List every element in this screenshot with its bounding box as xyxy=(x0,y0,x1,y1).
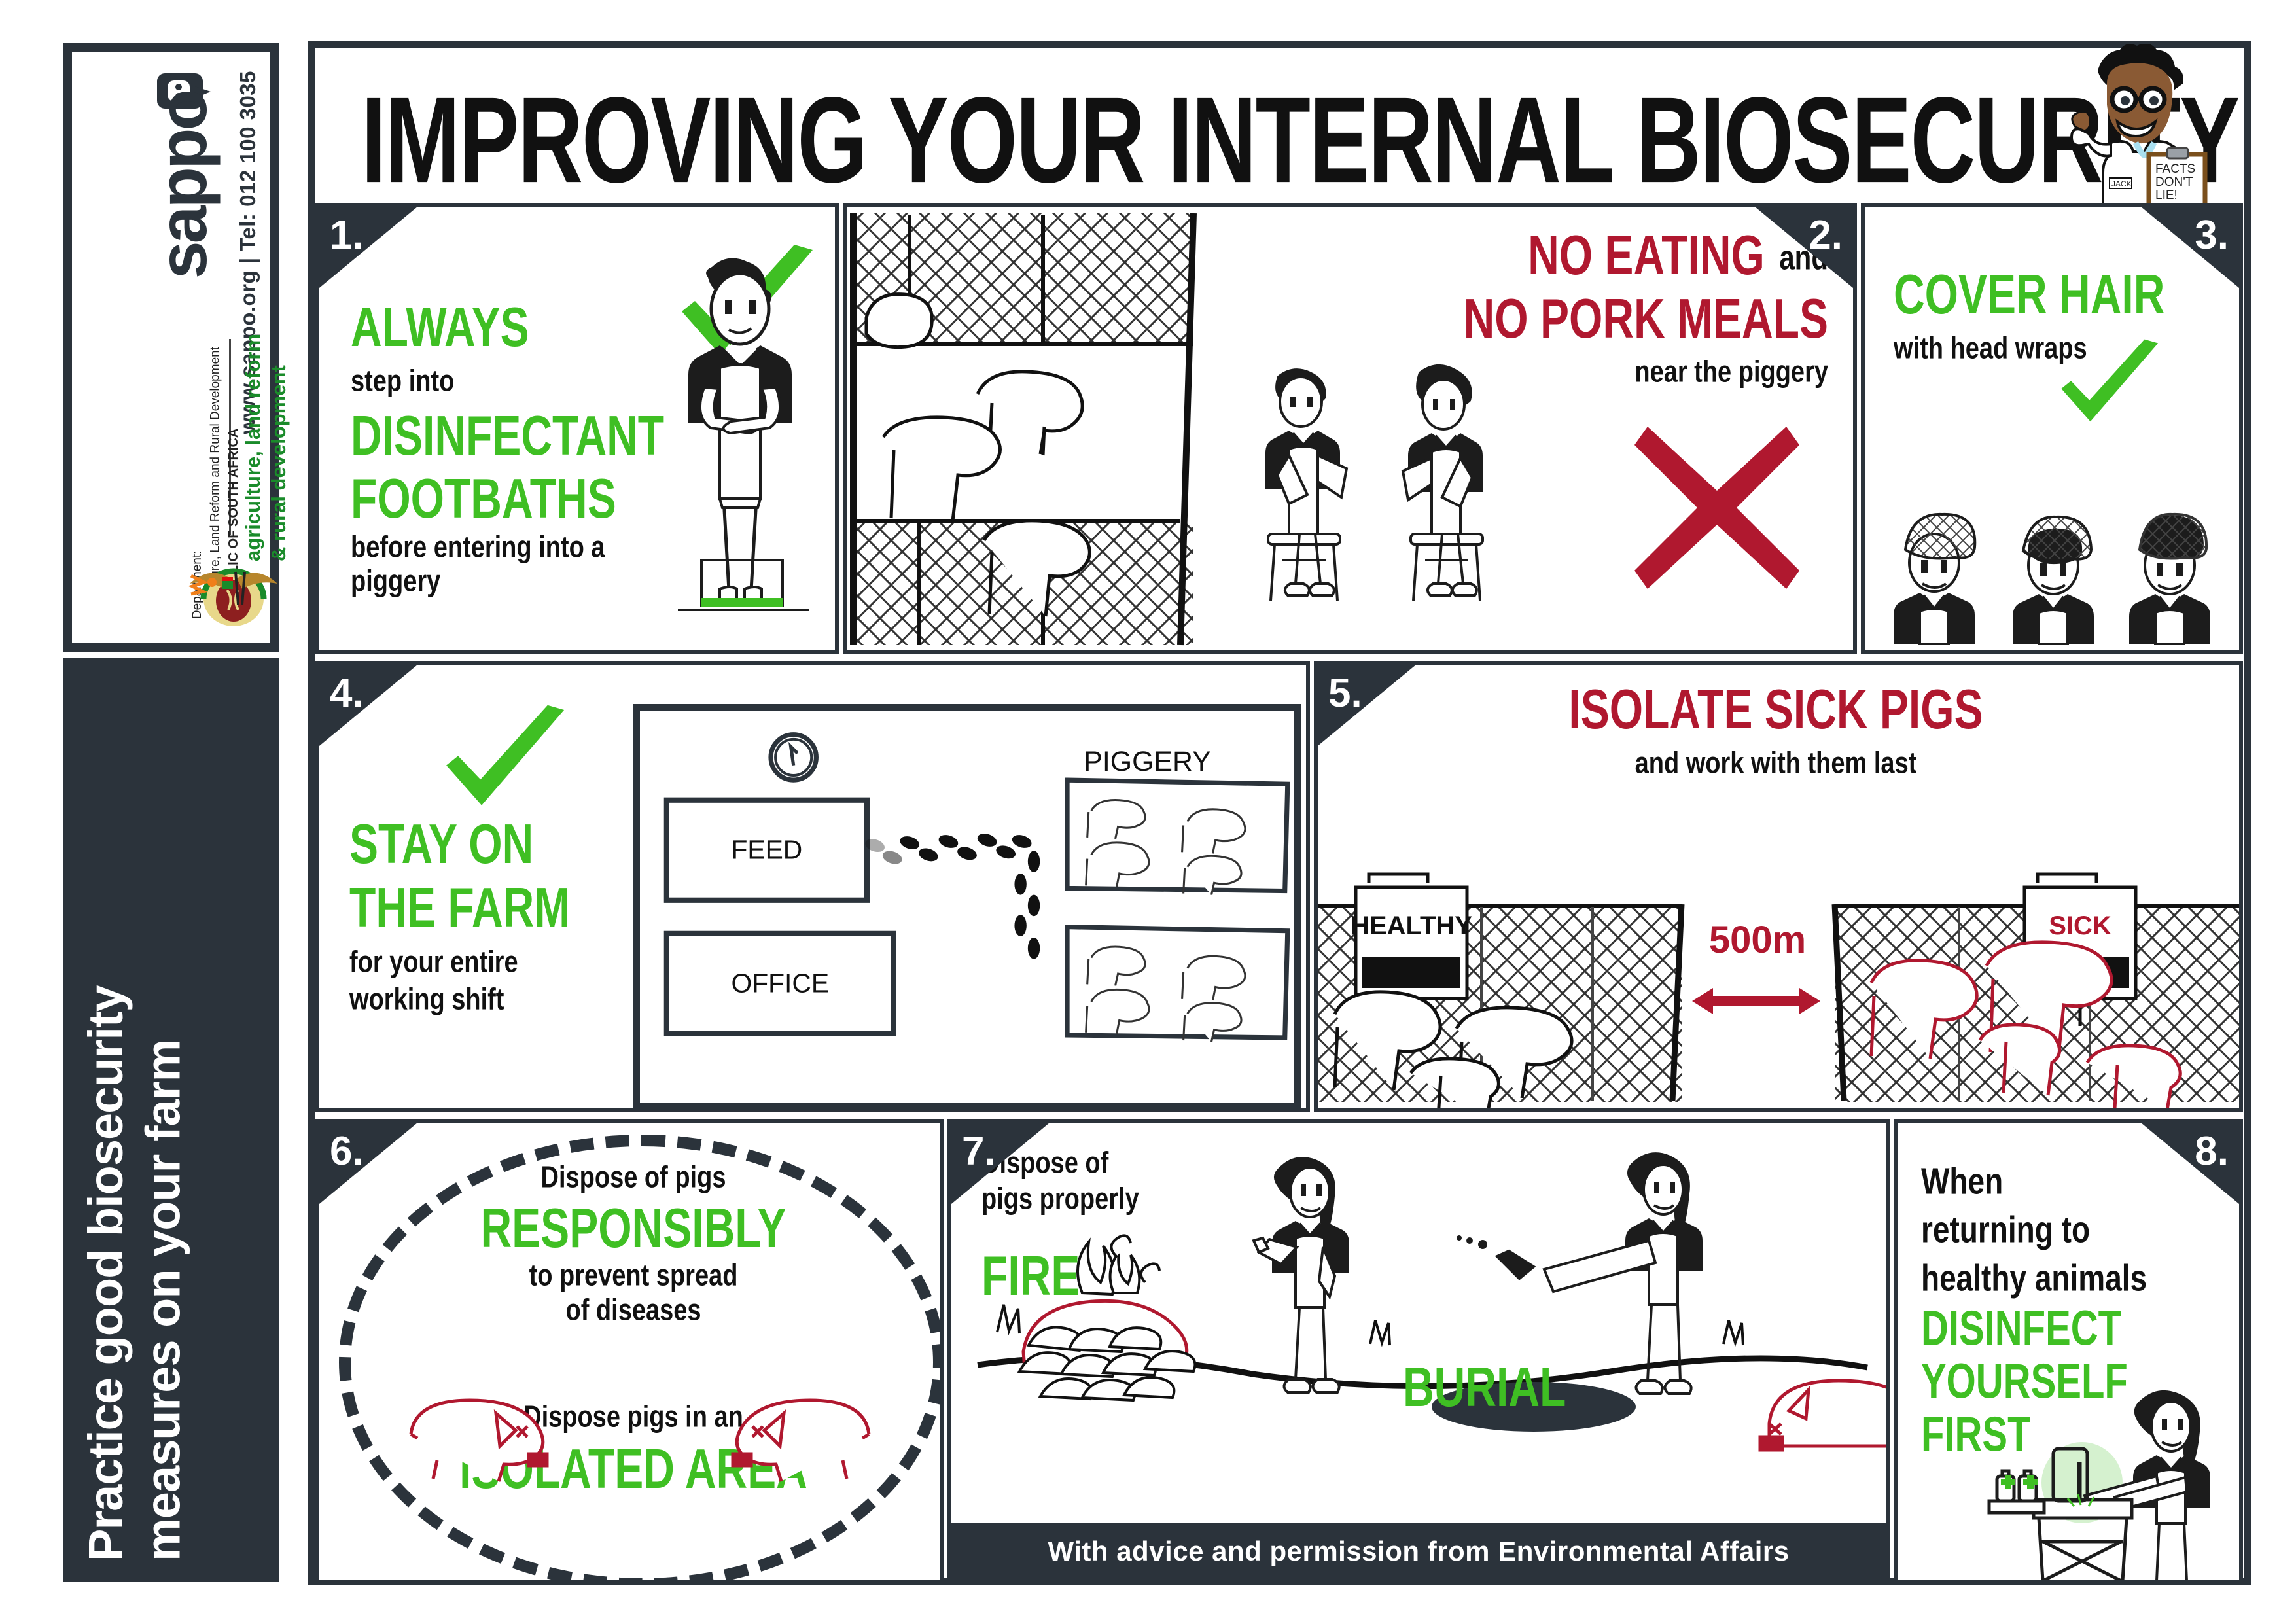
panel-3-number: 3. xyxy=(2195,212,2229,258)
panel-8: 8. When returning to healthy animals DIS… xyxy=(1894,1119,2243,1583)
panel-1-line-1: ALWAYS xyxy=(351,298,529,356)
green-check-icon xyxy=(437,704,574,822)
panel-7-fire: FIRE xyxy=(981,1247,1080,1305)
dept-green-line-1: agriculture, land reform xyxy=(241,334,264,561)
svg-text:JACK: JACK xyxy=(2111,179,2132,188)
panel-1-line-3: DISINFECTANT xyxy=(351,407,664,465)
sidebar-tagline: Practice good biosecurity measures on yo… xyxy=(63,658,279,1582)
svg-text:FACTS: FACTS xyxy=(2155,162,2195,176)
sappo-wordmark: sappo xyxy=(149,92,217,279)
green-check-icon xyxy=(2055,338,2166,436)
panel-7-intro-2: pigs properly xyxy=(981,1182,1139,1216)
panel-3-line-1: COVER HAIR xyxy=(1894,266,2164,323)
panel-6: 6. Dispose of pigs RESPONSIBLY to preven… xyxy=(315,1119,944,1583)
title-bar: IMPROVING YOUR INTERNAL BIOSECURITY FACT… xyxy=(315,48,2243,199)
sidebar-tagline-text: Practice good biosecurity measures on yo… xyxy=(77,678,267,1561)
panel-6-line-1: Dispose of pigs xyxy=(541,1161,726,1195)
piggery-label: PIGGERY xyxy=(1084,746,1210,777)
sidebar-line-2: measures on your farm xyxy=(135,1040,190,1561)
panel-number-badge: 1. xyxy=(319,207,417,288)
panel-5-subtitle: and work with them last xyxy=(1635,747,1917,781)
panel-1-text: ALWAYS step into DISINFECTANT FOOTBATHS … xyxy=(351,298,691,587)
panel-6-number: 6. xyxy=(330,1128,364,1174)
two-workers-eating-on-stools xyxy=(1252,364,1566,645)
feed-label: FEED xyxy=(731,835,802,865)
office-label: OFFICE xyxy=(731,968,829,998)
panel-1-line-5: before entering into a piggery xyxy=(351,531,691,599)
svg-text:DON'T: DON'T xyxy=(2155,175,2193,189)
worker-standing-on-footbath xyxy=(652,246,828,626)
panel-8-line-1: When xyxy=(1921,1159,2003,1203)
panel-4-number: 4. xyxy=(330,670,364,716)
panel-7-footer: With advice and permission from Environm… xyxy=(951,1523,1886,1580)
panel-8-line-4: DISINFECT xyxy=(1921,1303,2121,1354)
panel-5-number: 5. xyxy=(1328,670,1362,716)
page-title: IMPROVING YOUR INTERNAL BIOSECURITY xyxy=(361,71,2238,211)
panel-8-line-2: returning to xyxy=(1921,1208,2090,1251)
two-dead-pigs-icon xyxy=(398,1371,882,1489)
panel-number-badge: 4. xyxy=(319,665,417,746)
branding-column: sappo www.sappo.org | Tel: 012 100 3035 … xyxy=(63,43,279,652)
panel-7-text: Dispose of pigs properly FIRE xyxy=(981,1146,1191,1291)
panel-8-line-3: healthy animals xyxy=(1921,1256,2147,1299)
panel-4: 4. STAY ON THE FARM for your entire work… xyxy=(315,661,1310,1112)
dept-green-line-2: & rural development xyxy=(267,365,290,561)
panel-6-line-3: to prevent spread xyxy=(529,1259,738,1293)
panel-8-number: 8. xyxy=(2195,1128,2229,1174)
red-cross-icon xyxy=(1632,423,1802,593)
panel-4-line-3: for your entire xyxy=(349,945,518,980)
panel-5-title: ISOLATE SICK PIGS xyxy=(1568,680,1983,738)
panel-1-line-2: step into xyxy=(351,364,454,398)
department-logo: agriculture, land reform & rural develop… xyxy=(170,334,281,648)
panel-6-line-4: of diseases xyxy=(566,1294,701,1328)
farm-map: FEED OFFICE PIGGERY xyxy=(633,704,1301,1110)
worker-washing-hands-at-basin xyxy=(1976,1385,2243,1581)
svg-text:LIE!: LIE! xyxy=(2155,188,2178,202)
sign-sick: SICK xyxy=(2049,911,2111,940)
panel-2-no-eating: NO EATING xyxy=(1528,226,1765,284)
panel-7-burial: BURIAL xyxy=(1403,1358,1566,1416)
panel-5-heading: ISOLATE SICK PIGS and work with them las… xyxy=(1318,680,2234,775)
south-africa-coat-of-arms xyxy=(185,550,283,635)
panel-7: 7. xyxy=(947,1119,1890,1583)
two-fenced-pens-separated: HEALTHY SICK 500m xyxy=(1318,815,2239,1111)
sign-healthy: HEALTHY xyxy=(1351,911,1472,940)
panel-3: 3. COVER HAIR with head wraps xyxy=(1861,203,2243,654)
pig-pen-with-four-pigs xyxy=(847,207,1213,649)
panel-2: 2. NO EATING and NO PORK MEALS xyxy=(843,203,1857,654)
panel-7-burial-wrap: BURIAL xyxy=(1403,1358,1566,1402)
panel-1-line-4: FOOTBATHS xyxy=(351,470,616,527)
panel-2-near-piggery: near the piggery xyxy=(1634,355,1828,389)
department-green-text: agriculture, land reform & rural develop… xyxy=(241,334,292,561)
panel-2-heading: NO EATING and NO PORK MEALS near the pig… xyxy=(1239,226,1828,383)
panel-4-line-4: working shift xyxy=(349,983,504,1017)
panel-1-number: 1. xyxy=(330,212,364,258)
panel-7-number: 7. xyxy=(962,1128,996,1174)
panel-4-line-1: STAY ON xyxy=(349,815,533,873)
mascot-jack-icon: FACTS DON'T LIE! JACK xyxy=(2021,44,2230,208)
farm-map-svg: FEED OFFICE PIGGERY xyxy=(640,711,1294,1103)
distance-label: 500m xyxy=(1709,919,1806,961)
poster-root: sappo www.sappo.org | Tel: 012 100 3035 … xyxy=(0,0,2296,1624)
panel-4-text: STAY ON THE FARM for your entire working… xyxy=(349,815,631,1011)
panel-4-line-2: THE FARM xyxy=(349,879,570,936)
panel-5: 5. ISOLATE SICK PIGS and work with them … xyxy=(1314,661,2243,1112)
sidebar-line-1: Practice good biosecurity xyxy=(79,985,133,1561)
panel-2-number: 2. xyxy=(1809,212,1843,258)
panel-6-line-2: RESPONSIBLY xyxy=(480,1199,786,1257)
panel-2-no-pork: NO PORK MEALS xyxy=(1464,290,1828,347)
three-workers-wearing-head-wraps xyxy=(1878,482,2231,645)
panel-1: 1. ALWAYS step into DISINFECTANT FOOTBAT… xyxy=(315,203,839,654)
